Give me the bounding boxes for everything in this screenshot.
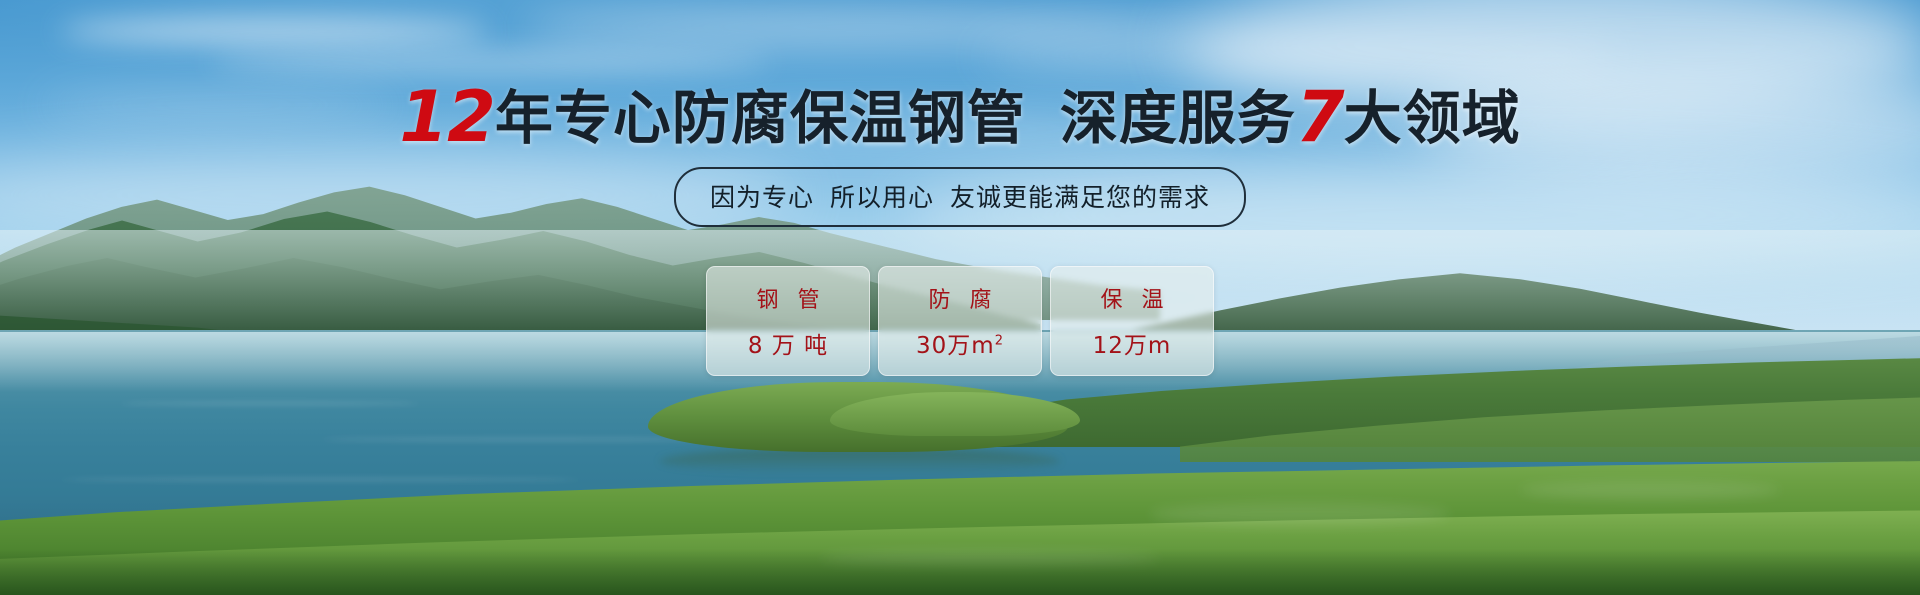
stat-card-label: 保 温 (1095, 282, 1170, 314)
headline-years-number: 12 (399, 76, 494, 158)
stat-card-value: 8 万 吨 (748, 326, 828, 360)
hero-banner: 12年专心防腐保温钢管深度服务7大领域 因为专心所以用心友诚更能满足您的需求 钢… (0, 0, 1920, 595)
stat-card-value-text: 8 万 吨 (748, 333, 828, 359)
headline-fields-number: 7 (1296, 76, 1344, 158)
stat-card-value-exponent: 2 (995, 333, 1004, 348)
stat-card-value-text: 30万m (916, 333, 995, 359)
stat-card-label: 防 腐 (923, 282, 998, 314)
banner-subtitle-pill: 因为专心所以用心友诚更能满足您的需求 (674, 167, 1246, 227)
subtitle-segment-3: 友诚更能满足您的需求 (950, 183, 1210, 212)
headline-part-two: 深度服务 (1060, 84, 1296, 152)
subtitle-segment-1: 因为专心 (710, 183, 814, 212)
stat-card-steel-pipe[interactable]: 钢 管 8 万 吨 (706, 266, 870, 376)
stat-card-label: 钢 管 (751, 282, 826, 314)
headline-part-one: 年专心防腐保温钢管 (495, 84, 1026, 152)
stat-card-value: 12万m (1093, 326, 1172, 360)
headline-part-three: 大领域 (1344, 84, 1521, 152)
stat-card-insulation[interactable]: 保 温 12万m (1050, 266, 1214, 376)
subtitle-segment-2: 所以用心 (830, 183, 934, 212)
stat-card-group: 钢 管 8 万 吨 防 腐 30万m2 保 温 12万m (706, 266, 1214, 376)
banner-headline: 12年专心防腐保温钢管深度服务7大领域 (0, 82, 1920, 152)
stat-card-value-text: 12万m (1093, 333, 1172, 359)
banner-content: 12年专心防腐保温钢管深度服务7大领域 因为专心所以用心友诚更能满足您的需求 钢… (0, 0, 1920, 595)
stat-card-anticorrosion[interactable]: 防 腐 30万m2 (878, 266, 1042, 376)
stat-card-value: 30万m2 (916, 326, 1004, 360)
